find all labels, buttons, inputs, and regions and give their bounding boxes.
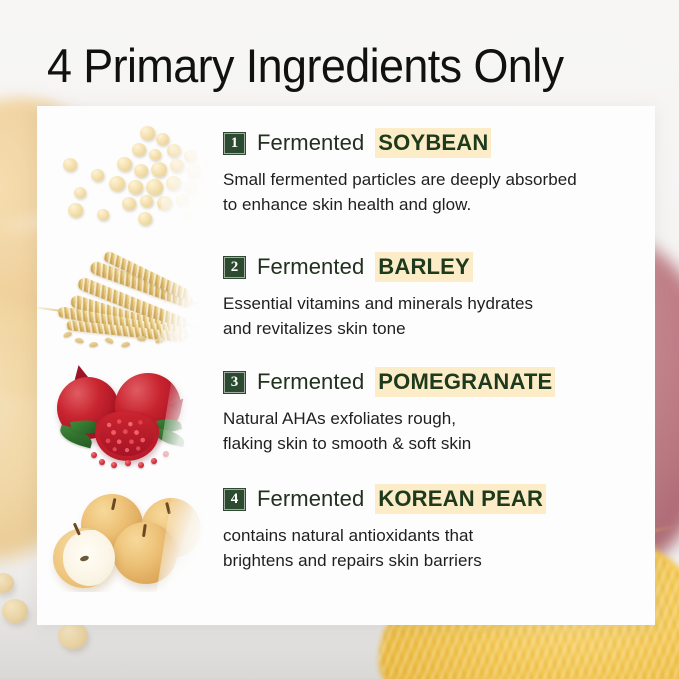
ingredient-text-korean-pear: 4 Fermented KOREAN PEAR contains natural… <box>223 480 655 573</box>
ingredient-label: Fermented <box>257 130 364 156</box>
soybeans-photo <box>37 124 223 236</box>
description-line: to enhance skin health and glow. <box>223 192 655 217</box>
ingredient-number-badge: 4 <box>223 488 246 511</box>
ingredient-number-badge: 1 <box>223 132 246 155</box>
page-title: 4 Primary Ingredients Only <box>47 38 620 94</box>
description-line: brightens and repairs skin barriers <box>223 548 655 573</box>
ingredient-name: KOREAN PEAR <box>375 484 546 514</box>
ingredient-text-soybean: 1 Fermented SOYBEAN Small fermented part… <box>223 124 655 217</box>
ingredient-label: Fermented <box>257 369 364 395</box>
ingredient-row-korean-pear: 4 Fermented KOREAN PEAR contains natural… <box>37 480 655 598</box>
ingredient-label: Fermented <box>257 254 364 280</box>
ingredient-name: SOYBEAN <box>375 128 491 158</box>
description-line: and revitalizes skin tone <box>223 316 655 341</box>
ingredient-description: Essential vitamins and minerals hydrates… <box>223 291 655 341</box>
background-bean-prop <box>2 599 28 623</box>
ingredient-label: Fermented <box>257 486 364 512</box>
ingredient-list: 1 Fermented SOYBEAN Small fermented part… <box>37 106 655 625</box>
pomegranate-photo <box>37 363 223 475</box>
ingredient-description: Small fermented particles are deeply abs… <box>223 167 655 217</box>
ingredient-description: Natural AHAs exfoliates rough, flaking s… <box>223 406 655 456</box>
ingredient-text-pomegranate: 3 Fermented POMEGRANATE Natural AHAs exf… <box>223 363 655 456</box>
ingredient-row-pomegranate: 3 Fermented POMEGRANATE Natural AHAs exf… <box>37 363 655 481</box>
description-line: Essential vitamins and minerals hydrates <box>223 291 655 316</box>
ingredient-heading: 2 Fermented BARLEY <box>223 252 655 282</box>
ingredient-infographic: 4 Primary Ingredients Only <box>0 0 679 679</box>
ingredient-name: BARLEY <box>375 252 473 282</box>
ingredient-row-soybean: 1 Fermented SOYBEAN Small fermented part… <box>37 124 655 242</box>
background-bean-prop <box>58 622 88 649</box>
ingredient-number-badge: 2 <box>223 256 246 279</box>
ingredient-heading: 3 Fermented POMEGRANATE <box>223 367 655 397</box>
ingredient-row-barley: 2 Fermented BARLEY Essential vitamins an… <box>37 248 655 366</box>
ingredient-heading: 1 Fermented SOYBEAN <box>223 128 655 158</box>
ingredients-card: 1 Fermented SOYBEAN Small fermented part… <box>37 106 655 625</box>
description-line: contains natural antioxidants that <box>223 523 655 548</box>
ingredient-description: contains natural antioxidants that brigh… <box>223 523 655 573</box>
ingredient-heading: 4 Fermented KOREAN PEAR <box>223 484 655 514</box>
ingredient-name: POMEGRANATE <box>375 367 555 397</box>
description-line: flaking skin to smooth & soft skin <box>223 431 655 456</box>
description-line: Natural AHAs exfoliates rough, <box>223 406 655 431</box>
ingredient-number-badge: 3 <box>223 371 246 394</box>
description-line: Small fermented particles are deeply abs… <box>223 167 655 192</box>
ingredient-text-barley: 2 Fermented BARLEY Essential vitamins an… <box>223 248 655 341</box>
barley-stalks-photo <box>37 248 223 360</box>
korean-pear-photo <box>37 480 223 592</box>
